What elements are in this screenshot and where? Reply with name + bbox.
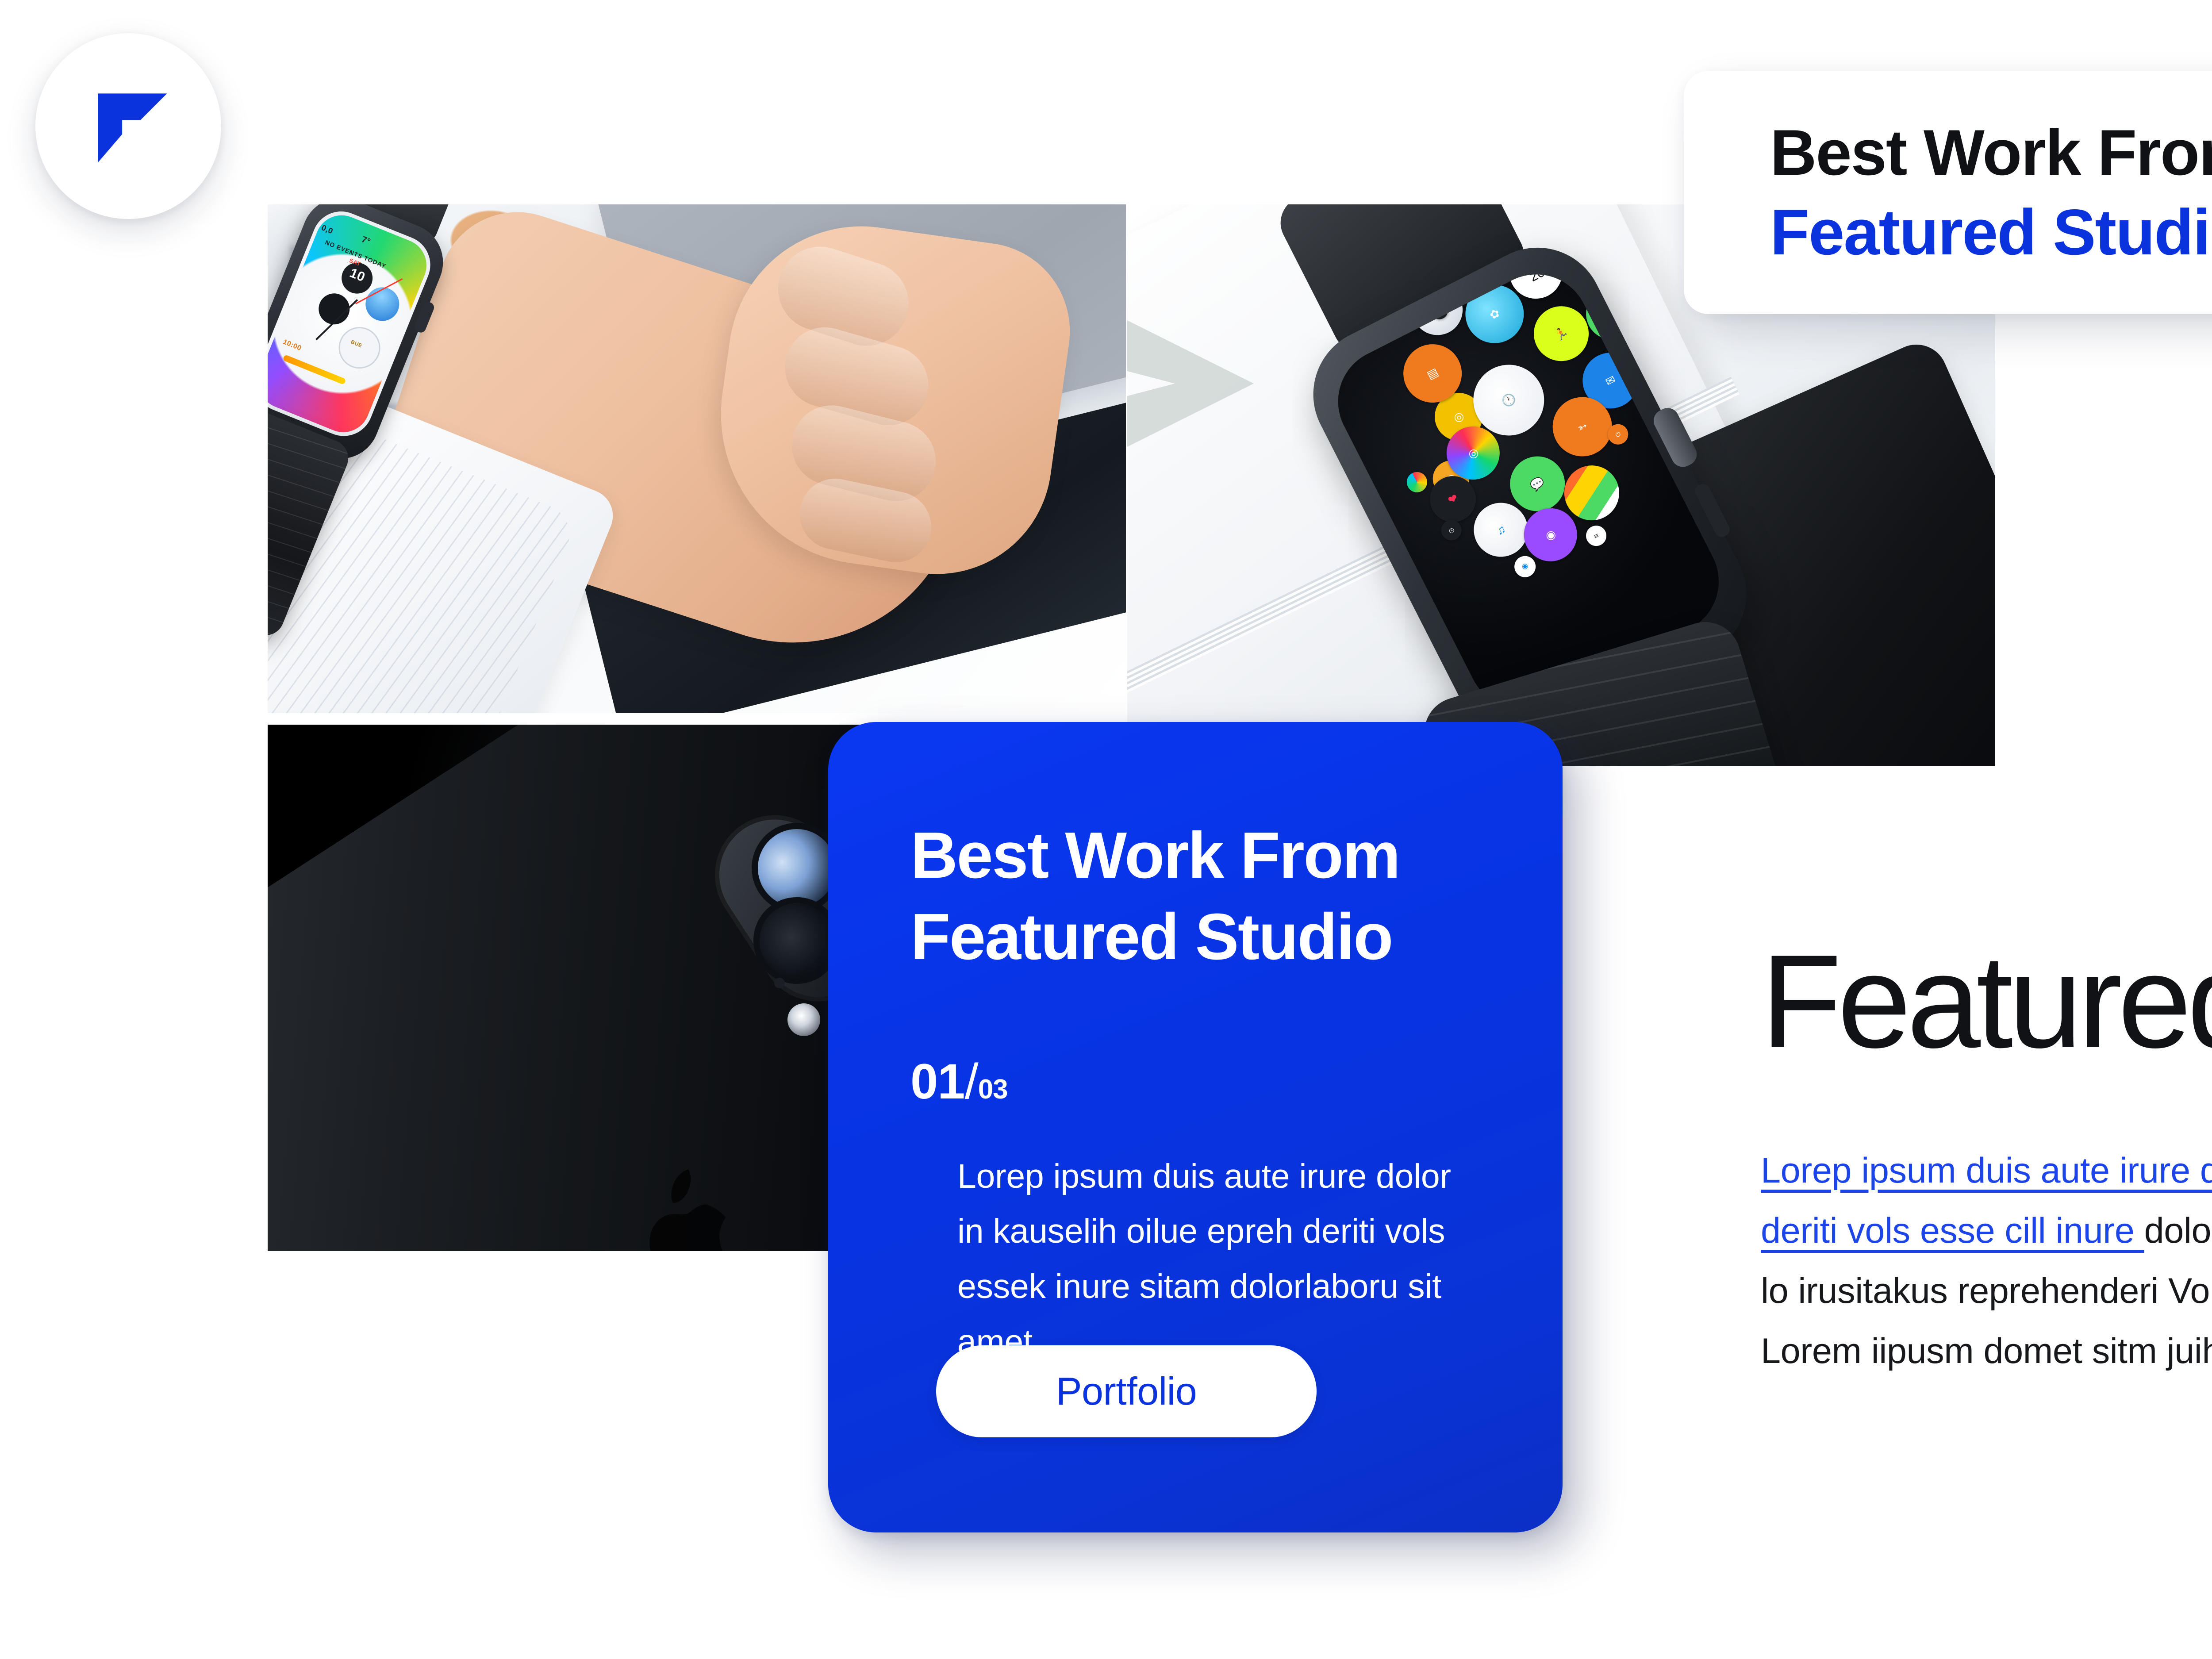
counter-total: 03 [978, 1076, 1008, 1103]
counter-current: 01 [910, 1057, 965, 1106]
blue-card-body-text: Lorep ipsum duis aute irure dolor in kau… [957, 1149, 1484, 1370]
white-card-title: Best Work From Featured Studio [1770, 113, 2212, 272]
blue-card-title: Best Work From Featured Studio [910, 815, 1487, 978]
featured-paragraph: Lorep ipsum duis aute irure dolor in kau… [1761, 1141, 2212, 1381]
slide-canvas: R E A L G O [0, 0, 2212, 1659]
white-card-title-line2: Featured Studio [1770, 192, 2212, 272]
featured-portfolio-section: Featured Portfolio Lorep ipsum duis aute… [1761, 933, 2212, 1381]
counter-separator: / [965, 1057, 978, 1106]
slide-counter: 01 / 03 [910, 1057, 1487, 1106]
white-card-title-line1: Best Work From [1770, 116, 2212, 188]
portfolio-button[interactable]: Portfolio [936, 1345, 1317, 1437]
featured-studio-blue-card[interactable]: Best Work From Featured Studio 01 / 03 L… [828, 722, 1563, 1532]
flag-f-logo-icon [77, 75, 179, 177]
blue-card-title-line1: Best Work From [910, 819, 1399, 892]
page-title: Featured Portfolio [1761, 933, 2212, 1069]
page-title-dark: Featured [1761, 927, 2212, 1075]
featured-studio-white-card[interactable]: Best Work From Featured Studio [1684, 71, 2212, 314]
blue-card-title-line2: Featured Studio [910, 900, 1392, 973]
brand-logo-badge[interactable] [35, 33, 221, 219]
hand-with-smartwatch-photo: R E A L G O [268, 204, 1126, 713]
